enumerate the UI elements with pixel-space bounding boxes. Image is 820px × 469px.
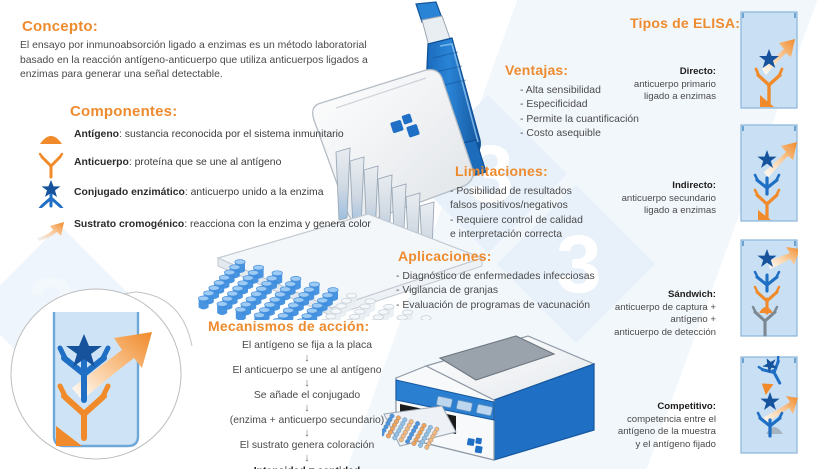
tipo-desc-line: ligado a enzimas (606, 91, 716, 104)
aplicaciones-item: - Vigilancia de granjas (396, 284, 595, 298)
tipo-competitivo-text: Competitivo: competencia entre el antíge… (592, 401, 716, 451)
concepto-text: El ensayo por inmunoabsorción ligado a e… (20, 39, 385, 83)
tipo-name: Indirecto: (601, 180, 716, 193)
tipo-name: Competitivo: (592, 401, 716, 414)
componente-row-anticuerpo: Anticuerpo: proteína que se une al antíg… (34, 152, 354, 178)
mecanismo-step: El anticuerpo se une al antígeno (192, 365, 422, 377)
componentes-title: Componentes: (70, 103, 177, 120)
mecanismos-flow: El antígeno se fija a la placa ↓ El anti… (192, 340, 422, 469)
componente-name-2: Conjugado enzimático (74, 187, 185, 198)
componente-desc-1: : proteína que se une al antígeno (129, 157, 282, 168)
mecanismo-step: El sustrato genera coloración (192, 440, 422, 452)
tipo-desc-line: anticuerpo primario (606, 79, 716, 92)
mecanismo-step: Se añade el conjugado (192, 390, 422, 402)
componente-desc-3: : reacciona con la enzima y genera color (184, 219, 371, 230)
reader-plate-well (425, 445, 430, 450)
tipo-indirecto-text: Indirecto: anticuerpo secundario ligado … (601, 180, 716, 218)
antigen-triangle-icon (34, 124, 68, 152)
microplate-well (217, 302, 227, 315)
tipo-competitivo-panel (740, 356, 798, 454)
concepto-title: Concepto: (22, 18, 98, 35)
flow-arrow-icon: ↓ (192, 453, 422, 464)
tipo-sandwich-text: Sándwich: anticuerpo de captura + antíge… (596, 289, 716, 339)
flow-arrow-icon: ↓ (192, 353, 422, 364)
aplicaciones-item: - Diagnóstico de enfermedades infecciosa… (396, 270, 595, 284)
antibody-y-icon (34, 152, 68, 180)
tipo-indirecto-panel (740, 124, 798, 222)
infographic-canvas: 3 3 3 (0, 0, 820, 469)
aplicaciones-list: - Diagnóstico de enfermedades infecciosa… (396, 270, 595, 313)
componente-row-conjugado: Conjugado enzimático: anticuerpo unido a… (34, 180, 354, 210)
mecanismo-step: (enzima + anticuerpo secundario) (192, 415, 422, 427)
microplate-well (397, 315, 407, 320)
componente-row-antigeno: Antígeno: sustancia reconocida por el si… (34, 124, 354, 150)
aplicaciones-item: - Evaluación de programas de vacunación (396, 299, 595, 313)
mecanismo-step: El antígeno se fija a la placa (192, 340, 422, 352)
tipo-desc-line: anticuerpo secundario (601, 193, 716, 206)
tipo-desc-line: competencia entre el (592, 414, 716, 427)
aplicaciones-title: Aplicaciones: (398, 248, 492, 264)
tipo-name: Directo: (606, 66, 716, 79)
tipos-de-elisa-title: Tipos de ELISA: (630, 15, 740, 31)
componente-desc-2: : anticuerpo unido a la enzima (185, 187, 324, 198)
tipo-desc-line: antígeno de la muestra (592, 426, 716, 439)
flow-arrow-icon: ↓ (192, 403, 422, 414)
tipo-desc-line: anticuerpo de detección (596, 327, 716, 340)
tipo-sandwich-panel (740, 239, 798, 337)
limitaciones-item: e interpretación correcta (450, 228, 630, 242)
chromogenic-substrate-icon (34, 218, 68, 246)
microplate-well (373, 315, 383, 320)
ventajas-item: - Permite la cuantificación (520, 113, 639, 127)
enzyme-conjugate-icon (34, 180, 68, 208)
mecanismos-title: Mecanismos de acción: (208, 318, 369, 334)
tipo-name: Sándwich: (596, 289, 716, 302)
tipo-desc-line: anticuerpo de captura + (596, 302, 716, 315)
flow-arrow-icon: ↓ (192, 428, 422, 439)
tipo-desc-line: y el antígeno fijado (592, 439, 716, 452)
componente-desc-0: : sustancia reconocida por el sistema in… (119, 129, 344, 140)
componente-name-1: Anticuerpo (74, 157, 129, 168)
microplate-well (421, 316, 431, 320)
ventajas-title: Ventajas: (505, 62, 568, 78)
limitaciones-title: Limitaciones: (455, 163, 548, 179)
tipo-directo-panel (740, 11, 798, 109)
magnified-well-lens-illustration (0, 250, 206, 469)
tipo-desc-line: ligado a enzimas (601, 205, 716, 218)
flow-arrow-icon: ↓ (192, 378, 422, 389)
componente-name-3: Sustrato cromogénico (74, 219, 184, 230)
tipo-directo-text: Directo: anticuerpo primario ligado a en… (606, 66, 716, 104)
tipo-desc-line: antígeno + (596, 314, 716, 327)
componente-row-sustrato: Sustrato cromogénico: reacciona con la e… (34, 218, 354, 250)
ventajas-item: - Costo asequible (520, 127, 639, 141)
componente-name-0: Antígeno (74, 129, 119, 140)
